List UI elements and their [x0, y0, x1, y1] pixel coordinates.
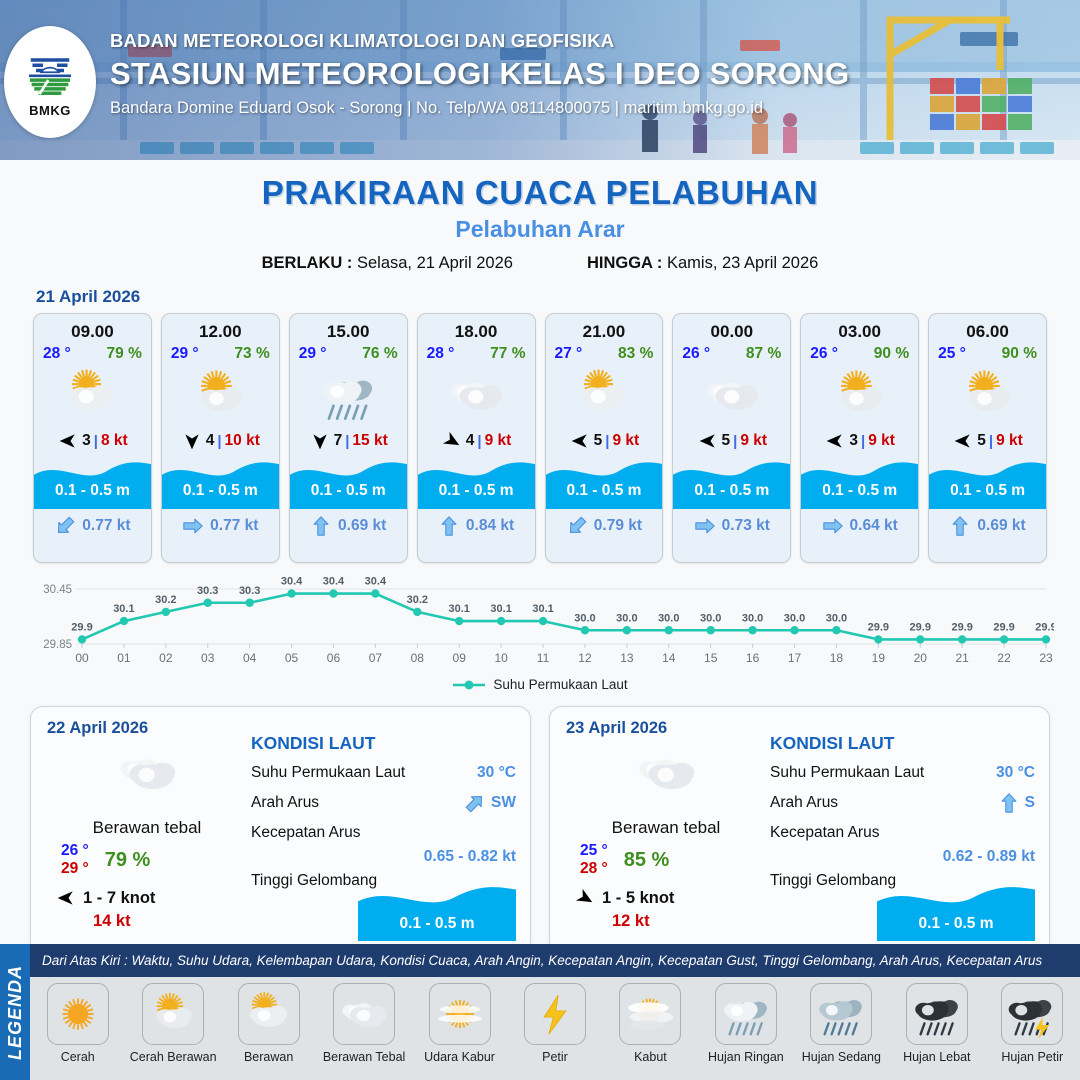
current-direction-arrow	[998, 792, 1020, 814]
card-current-row: 0.73 kt	[673, 509, 790, 537]
panel-wave-graphic: 0.1 - 0.5 m	[358, 881, 516, 941]
weather-icon-hujan-sedang	[816, 989, 866, 1039]
card-wave-height: 0.1 - 0.5 m	[162, 482, 279, 500]
legend-icon-box	[619, 983, 681, 1045]
weather-icon-berawan	[575, 366, 633, 424]
forecast-card[interactable]: 18.00 28 ° 77 % 4 | 9 kt	[417, 313, 536, 563]
daily-forecast-panel[interactable]: 23 April 2026 Berawan tebal 25 ° 28 ° 85…	[549, 706, 1050, 954]
weather-icon-petir	[530, 989, 580, 1039]
card-wave: 0.1 - 0.5 m	[929, 457, 1046, 509]
card-weather-icon	[290, 365, 407, 425]
card-wave: 0.1 - 0.5 m	[546, 457, 663, 509]
weather-icon-hujan-petir	[1007, 989, 1057, 1039]
card-gust-speed: 9 kt	[740, 432, 767, 450]
card-wind-speed: 4	[466, 432, 475, 450]
weather-icon-hujan-lebat	[912, 989, 962, 1039]
panel-current-dir-label: Arah Arus	[770, 794, 838, 812]
chart-point-label: 29.9	[868, 621, 889, 633]
legend-icon-box	[333, 983, 395, 1045]
forecast-card[interactable]: 09.00 28 ° 79 % 3 | 8 kt 0.1 - 0.5 m	[33, 313, 152, 563]
legend-item: Hujan Ringan	[701, 983, 791, 1064]
weather-icon-cerah	[53, 989, 103, 1039]
weather-icon-berawan-tebal	[703, 366, 761, 424]
legend-item: Kabut	[605, 983, 695, 1064]
panel-weather-icon	[47, 742, 247, 804]
legend-icon-box	[715, 983, 777, 1045]
chart-point-label: 30.3	[239, 585, 260, 597]
chart-point-label: 30.0	[742, 612, 763, 624]
card-weather-icon	[546, 365, 663, 425]
chart-point	[706, 626, 714, 634]
chart-ytick: 30.45	[43, 584, 72, 596]
chart-line	[82, 594, 1046, 640]
card-time: 03.00	[801, 314, 918, 342]
chart-xtick: 15	[704, 651, 718, 665]
chart-point-label: 30.4	[365, 576, 387, 588]
card-current-speed: 0.77 kt	[210, 517, 258, 535]
legend-icon-box	[1001, 983, 1063, 1045]
chart-point-label: 30.1	[490, 603, 511, 615]
current-direction-arrow	[54, 515, 76, 537]
forecast-card[interactable]: 21.00 27 ° 83 % 5 | 9 kt 0.1 - 0.5 m	[545, 313, 664, 563]
panel-date: 22 April 2026	[47, 719, 247, 738]
weather-icon-cerah-berawan	[148, 989, 198, 1039]
forecast-date-label: 21 April 2026	[36, 287, 1080, 307]
card-gust-speed: 15 kt	[352, 432, 387, 450]
legend-item-label: Petir	[542, 1050, 568, 1064]
card-gust-speed: 9 kt	[612, 432, 639, 450]
sst-line-chart: 30.4529.8529.90030.10130.20230.30330.304…	[26, 575, 1054, 670]
card-temperature: 28 °	[43, 345, 71, 363]
weather-icon-berawan-tebal	[635, 742, 697, 804]
chart-xtick: 04	[243, 651, 257, 665]
chart-point	[204, 599, 212, 607]
card-wave-height: 0.1 - 0.5 m	[801, 482, 918, 500]
legend-item-label: Berawan	[244, 1050, 293, 1064]
chart-point	[162, 608, 170, 616]
card-time: 15.00	[290, 314, 407, 342]
chart-point-label: 30.0	[574, 612, 595, 624]
validity-row: BERLAKU : Selasa, 21 April 2026 HINGGA :…	[0, 254, 1080, 273]
panel-temp-min: 25 °	[580, 842, 608, 860]
card-wave: 0.1 - 0.5 m	[673, 457, 790, 509]
panel-gust: 12 kt	[566, 912, 766, 931]
forecast-card[interactable]: 03.00 26 ° 90 % 3 | 9 kt 0.1 - 0.5 m	[800, 313, 919, 563]
card-current-speed: 0.69 kt	[977, 517, 1025, 535]
chart-point-label: 30.4	[323, 576, 345, 588]
panel-condition: Berawan tebal	[566, 818, 766, 838]
weather-icon-cerah-berawan	[959, 366, 1017, 424]
chart-point	[1042, 635, 1050, 643]
port-name: Pelabuhan Arar	[0, 216, 1080, 243]
chart-point-label: 30.4	[281, 576, 303, 588]
panel-current-dir-value: SW	[491, 794, 516, 812]
panel-wave-value: 0.1 - 0.5 m	[877, 915, 1035, 933]
card-current-speed: 0.69 kt	[338, 517, 386, 535]
chart-point-label: 30.0	[784, 612, 805, 624]
chart-point	[581, 626, 589, 634]
chart-xtick: 00	[75, 651, 89, 665]
page-header: BMKG BADAN METEOROLOGI KLIMATOLOGI DAN G…	[0, 0, 1080, 160]
card-separator: |	[217, 433, 221, 450]
card-humidity: 87 %	[746, 345, 781, 363]
daily-forecast-panels: 22 April 2026 Berawan tebal 26 ° 29 ° 79…	[0, 692, 1080, 954]
chart-point	[539, 617, 547, 625]
chart-point	[874, 635, 882, 643]
panel-current-dir-value-wrap: S	[998, 792, 1035, 814]
card-weather-icon	[34, 365, 151, 425]
chart-xtick: 23	[1039, 651, 1053, 665]
panel-current-dir-value-wrap: SW	[464, 792, 516, 814]
panel-wave-value: 0.1 - 0.5 m	[358, 915, 516, 933]
chart-xtick: 16	[746, 651, 760, 665]
card-wave: 0.1 - 0.5 m	[162, 457, 279, 509]
wind-direction-arrow	[569, 431, 591, 451]
valid-from: BERLAKU : Selasa, 21 April 2026	[262, 254, 513, 273]
legend-item-label: Cerah	[61, 1050, 95, 1064]
legend-item-label: Hujan Petir	[1001, 1050, 1063, 1064]
chart-xtick: 22	[997, 651, 1011, 665]
wind-direction-arrow	[55, 888, 77, 908]
card-temperature: 27 °	[555, 345, 583, 363]
card-current-speed: 0.73 kt	[722, 517, 770, 535]
card-wave: 0.1 - 0.5 m	[290, 457, 407, 509]
wind-direction-arrow	[824, 431, 846, 451]
chart-point	[748, 626, 756, 634]
chart-point-label: 29.9	[910, 621, 931, 633]
card-current-speed: 0.79 kt	[594, 517, 642, 535]
card-wave: 0.1 - 0.5 m	[34, 457, 151, 509]
station-contact: Bandara Domine Eduard Osok - Sorong | No…	[110, 99, 849, 118]
current-direction-arrow	[464, 792, 486, 814]
card-separator: |	[989, 433, 993, 450]
chart-point	[1000, 635, 1008, 643]
weather-icon-berawan-tebal	[116, 742, 178, 804]
card-wave-height: 0.1 - 0.5 m	[546, 482, 663, 500]
panel-humidity: 85 %	[624, 849, 670, 872]
chart-xtick: 10	[494, 651, 508, 665]
card-temperature: 29 °	[299, 345, 327, 363]
card-wind-row: 5 | 9 kt	[929, 425, 1046, 457]
card-time: 06.00	[929, 314, 1046, 342]
wind-direction-arrow	[309, 431, 331, 451]
chart-legend-label: Suhu Permukaan Laut	[493, 677, 627, 692]
legend-item: Hujan Petir	[987, 983, 1077, 1064]
chart-point-label: 30.0	[700, 612, 721, 624]
card-humidity: 76 %	[362, 345, 397, 363]
chart-point	[245, 599, 253, 607]
panel-current-speed-label: Kecepatan Arus	[251, 824, 360, 841]
chart-xtick: 17	[788, 651, 802, 665]
card-temperature: 28 °	[427, 345, 455, 363]
panel-right: KONDISI LAUT Suhu Permukaan Laut 30 °C A…	[247, 719, 516, 943]
legend-description: Dari Atas Kiri : Waktu, Suhu Udara, Kele…	[30, 944, 1080, 977]
card-humidity: 90 %	[1002, 345, 1037, 363]
card-weather-icon	[162, 365, 279, 425]
card-humidity: 79 %	[107, 345, 142, 363]
current-direction-arrow	[566, 515, 588, 537]
chart-point-label: 29.9	[1035, 621, 1054, 633]
card-weather-icon	[418, 365, 535, 425]
chart-xtick: 19	[872, 651, 886, 665]
chart-point-label: 29.9	[951, 621, 972, 633]
card-separator: |	[94, 433, 98, 450]
station-name: STASIUN METEOROLOGI KELAS I DEO SORONG	[110, 56, 849, 92]
bmkg-logo-icon	[22, 46, 78, 102]
weather-icon-cerah-berawan	[831, 366, 889, 424]
panel-current-dir-row: Arah Arus SW	[251, 792, 516, 814]
chart-xtick: 09	[453, 651, 467, 665]
chart-point	[413, 608, 421, 616]
card-wind-row: 3 | 8 kt	[34, 425, 151, 457]
legend-item-label: Hujan Ringan	[708, 1050, 784, 1064]
panel-sst-value: 30 °C	[477, 764, 516, 782]
panel-date: 23 April 2026	[566, 719, 766, 738]
card-gust-speed: 10 kt	[225, 432, 260, 450]
card-wind-speed: 3	[849, 432, 858, 450]
weather-icon-kabut	[625, 989, 675, 1039]
card-current-row: 0.77 kt	[34, 509, 151, 537]
chart-point-label: 30.0	[658, 612, 679, 624]
legend-item: Hujan Sedang	[796, 983, 886, 1064]
panel-humidity: 79 %	[105, 849, 151, 872]
legend-item-label: Kabut	[634, 1050, 667, 1064]
forecast-card[interactable]: 06.00 25 ° 90 % 5 | 9 kt 0.1 - 0.5 m	[928, 313, 1047, 563]
card-wave-height: 0.1 - 0.5 m	[290, 482, 407, 500]
panel-wind-row: 1 - 5 knot	[566, 888, 766, 908]
legend-item: Cerah Berawan	[128, 983, 218, 1064]
legend-icon-box	[524, 983, 586, 1045]
card-current-row: 0.84 kt	[418, 509, 535, 537]
weather-icon-udara-kabur	[435, 989, 485, 1039]
chart-point	[665, 626, 673, 634]
legend-line-icon	[452, 679, 486, 691]
chart-xtick: 01	[117, 651, 131, 665]
chart-point-label: 30.2	[407, 594, 428, 606]
card-time: 00.00	[673, 314, 790, 342]
card-wave-height: 0.1 - 0.5 m	[929, 482, 1046, 500]
sst-chart-container: 30.4529.8529.90030.10130.20230.30330.304…	[0, 575, 1080, 692]
card-wind-row: 7 | 15 kt	[290, 425, 407, 457]
chart-xtick: 12	[578, 651, 592, 665]
panel-sea-title: KONDISI LAUT	[770, 733, 1035, 754]
chart-point	[790, 626, 798, 634]
chart-xtick: 13	[620, 651, 634, 665]
panel-temps: 26 ° 29 ° 79 %	[47, 842, 247, 878]
card-wave: 0.1 - 0.5 m	[418, 457, 535, 509]
legend-icon-box	[47, 983, 109, 1045]
panel-current-speed-value: 0.62 - 0.89 kt	[770, 848, 1035, 866]
legend-items-row: Cerah Cerah Berawan Berawan	[30, 977, 1080, 1080]
chart-xtick: 06	[327, 651, 341, 665]
wind-direction-arrow	[57, 431, 79, 451]
chart-xtick: 18	[830, 651, 844, 665]
panel-current-dir-label: Arah Arus	[251, 794, 319, 812]
card-wave-height: 0.1 - 0.5 m	[673, 482, 790, 500]
weather-icon-berawan-tebal	[339, 989, 389, 1039]
chart-xtick: 14	[662, 651, 676, 665]
panel-wind-range: 1 - 7 knot	[83, 889, 155, 908]
card-wind-speed: 5	[594, 432, 603, 450]
card-gust-speed: 9 kt	[868, 432, 895, 450]
card-time: 21.00	[546, 314, 663, 342]
wind-direction-arrow	[181, 431, 203, 451]
chart-point-label: 30.0	[616, 612, 637, 624]
chart-xtick: 20	[914, 651, 928, 665]
panel-left: 22 April 2026 Berawan tebal 26 ° 29 ° 79…	[47, 719, 247, 943]
legend-icon-box	[429, 983, 491, 1045]
panel-current-speed-label: Kecepatan Arus	[770, 824, 879, 841]
card-temperature: 26 °	[810, 345, 838, 363]
card-separator: |	[733, 433, 737, 450]
chart-point-label: 29.9	[71, 621, 92, 633]
chart-xtick: 02	[159, 651, 173, 665]
card-time: 12.00	[162, 314, 279, 342]
panel-sea-title: KONDISI LAUT	[251, 733, 516, 754]
wind-direction-arrow	[574, 888, 596, 908]
daily-forecast-panel[interactable]: 22 April 2026 Berawan tebal 26 ° 29 ° 79…	[30, 706, 531, 954]
card-temperature: 26 °	[682, 345, 710, 363]
card-wind-row: 5 | 9 kt	[546, 425, 663, 457]
weather-icon-cerah-berawan	[191, 366, 249, 424]
card-humidity: 83 %	[618, 345, 653, 363]
card-time: 09.00	[34, 314, 151, 342]
forecast-card[interactable]: 00.00 26 ° 87 % 5 | 9 kt	[672, 313, 791, 563]
card-wind-row: 5 | 9 kt	[673, 425, 790, 457]
chart-xtick: 05	[285, 651, 299, 665]
weather-icon-hujan-ringan	[721, 989, 771, 1039]
current-direction-arrow	[822, 515, 844, 537]
weather-icon-hujan-ringan	[319, 366, 377, 424]
valid-from-value: Selasa, 21 April 2026	[357, 254, 513, 272]
legend-item-label: Udara Kabur	[424, 1050, 495, 1064]
panel-sst-row: Suhu Permukaan Laut 30 °C	[770, 764, 1035, 782]
card-wind-speed: 5	[977, 432, 986, 450]
chart-point-label: 30.0	[826, 612, 847, 624]
weather-icon-berawan	[63, 366, 121, 424]
card-separator: |	[477, 433, 481, 450]
panel-right: KONDISI LAUT Suhu Permukaan Laut 30 °C A…	[766, 719, 1035, 943]
card-current-speed: 0.84 kt	[466, 517, 514, 535]
page-title: PRAKIRAAN CUACA PELABUHAN	[0, 174, 1080, 212]
card-current-row: 0.69 kt	[290, 509, 407, 537]
panel-wind-range: 1 - 5 knot	[602, 889, 674, 908]
chart-point-label: 30.1	[449, 603, 470, 615]
panel-temp-min: 26 °	[61, 842, 89, 860]
chart-point	[120, 617, 128, 625]
chart-legend: Suhu Permukaan Laut	[26, 677, 1054, 692]
panel-sst-row: Suhu Permukaan Laut 30 °C	[251, 764, 516, 782]
hourly-forecast-row: 09.00 28 ° 79 % 3 | 8 kt 0.1 - 0.5 m	[0, 313, 1080, 563]
legend-icon-box	[238, 983, 300, 1045]
card-temperature: 29 °	[171, 345, 199, 363]
card-separator: |	[861, 433, 865, 450]
panel-sst-value: 30 °C	[996, 764, 1035, 782]
legend-item-label: Hujan Sedang	[802, 1050, 881, 1064]
card-weather-icon	[801, 365, 918, 425]
chart-point-label: 30.3	[197, 585, 218, 597]
wind-direction-arrow	[952, 431, 974, 451]
current-direction-arrow	[438, 515, 460, 537]
legend-item-label: Hujan Lebat	[903, 1050, 970, 1064]
card-current-row: 0.64 kt	[801, 509, 918, 537]
card-humidity: 77 %	[490, 345, 525, 363]
card-separator: |	[345, 433, 349, 450]
card-wind-row: 3 | 9 kt	[801, 425, 918, 457]
legend-icon-box	[810, 983, 872, 1045]
forecast-card[interactable]: 12.00 29 ° 73 % 4 | 10 kt 0.1 - 0.5 m	[161, 313, 280, 563]
card-current-row: 0.77 kt	[162, 509, 279, 537]
legend-item-label: Berawan Tebal	[323, 1050, 405, 1064]
bmkg-logo-text: BMKG	[29, 103, 71, 118]
current-direction-arrow	[182, 515, 204, 537]
legend-item-label: Cerah Berawan	[130, 1050, 217, 1064]
chart-point-label: 30.1	[532, 603, 553, 615]
chart-xtick: 11	[537, 651, 550, 665]
card-wind-speed: 5	[722, 432, 731, 450]
chart-point	[455, 617, 463, 625]
current-direction-arrow	[694, 515, 716, 537]
card-gust-speed: 8 kt	[101, 432, 128, 450]
chart-point	[78, 635, 86, 643]
agency-name: BADAN METEOROLOGI KLIMATOLOGI DAN GEOFIS…	[110, 30, 849, 52]
chart-point-label: 29.9	[993, 621, 1014, 633]
panel-current-speed-value: 0.65 - 0.82 kt	[251, 848, 516, 866]
chart-ytick: 29.85	[43, 639, 72, 651]
card-separator: |	[605, 433, 609, 450]
panel-wind-row: 1 - 7 knot	[47, 888, 247, 908]
legend-item: Udara Kabur	[415, 983, 505, 1064]
chart-point	[623, 626, 631, 634]
chart-point-label: 30.1	[113, 603, 134, 615]
title-section: PRAKIRAAN CUACA PELABUHAN Pelabuhan Arar…	[0, 160, 1080, 273]
forecast-card[interactable]: 15.00 29 ° 76 % 7 | 15 kt	[289, 313, 408, 563]
chart-xtick: 03	[201, 651, 215, 665]
legend-item: Petir	[510, 983, 600, 1064]
card-wave-height: 0.1 - 0.5 m	[34, 482, 151, 500]
panel-current-dir-row: Arah Arus S	[770, 792, 1035, 814]
card-wind-speed: 7	[334, 432, 343, 450]
card-wind-row: 4 | 10 kt	[162, 425, 279, 457]
chart-point	[371, 589, 379, 597]
legend-side-label: LEGENDA	[5, 964, 26, 1059]
panel-current-speed-block: Kecepatan Arus 0.65 - 0.82 kt	[251, 824, 516, 866]
panel-temp-max: 29 °	[61, 860, 89, 878]
card-time: 18.00	[418, 314, 535, 342]
panel-sst-label: Suhu Permukaan Laut	[770, 764, 924, 782]
panel-wave-graphic: 0.1 - 0.5 m	[877, 881, 1035, 941]
card-humidity: 90 %	[874, 345, 909, 363]
legend-section: LEGENDA Dari Atas Kiri : Waktu, Suhu Uda…	[0, 944, 1080, 1080]
weather-icon-berawan	[244, 989, 294, 1039]
card-gust-speed: 9 kt	[996, 432, 1023, 450]
chart-xtick: 07	[369, 651, 383, 665]
card-gust-speed: 9 kt	[485, 432, 512, 450]
card-weather-icon	[673, 365, 790, 425]
card-current-speed: 0.77 kt	[82, 517, 130, 535]
weather-icon-berawan-tebal	[447, 366, 505, 424]
panel-left: 23 April 2026 Berawan tebal 25 ° 28 ° 85…	[566, 719, 766, 943]
chart-xtick: 08	[411, 651, 425, 665]
chart-xtick: 21	[955, 651, 969, 665]
card-temperature: 25 °	[938, 345, 966, 363]
panel-temps: 25 ° 28 ° 85 %	[566, 842, 766, 878]
panel-gust: 14 kt	[47, 912, 247, 931]
card-wind-row: 4 | 9 kt	[418, 425, 535, 457]
chart-point	[958, 635, 966, 643]
chart-point	[287, 589, 295, 597]
panel-sst-label: Suhu Permukaan Laut	[251, 764, 405, 782]
